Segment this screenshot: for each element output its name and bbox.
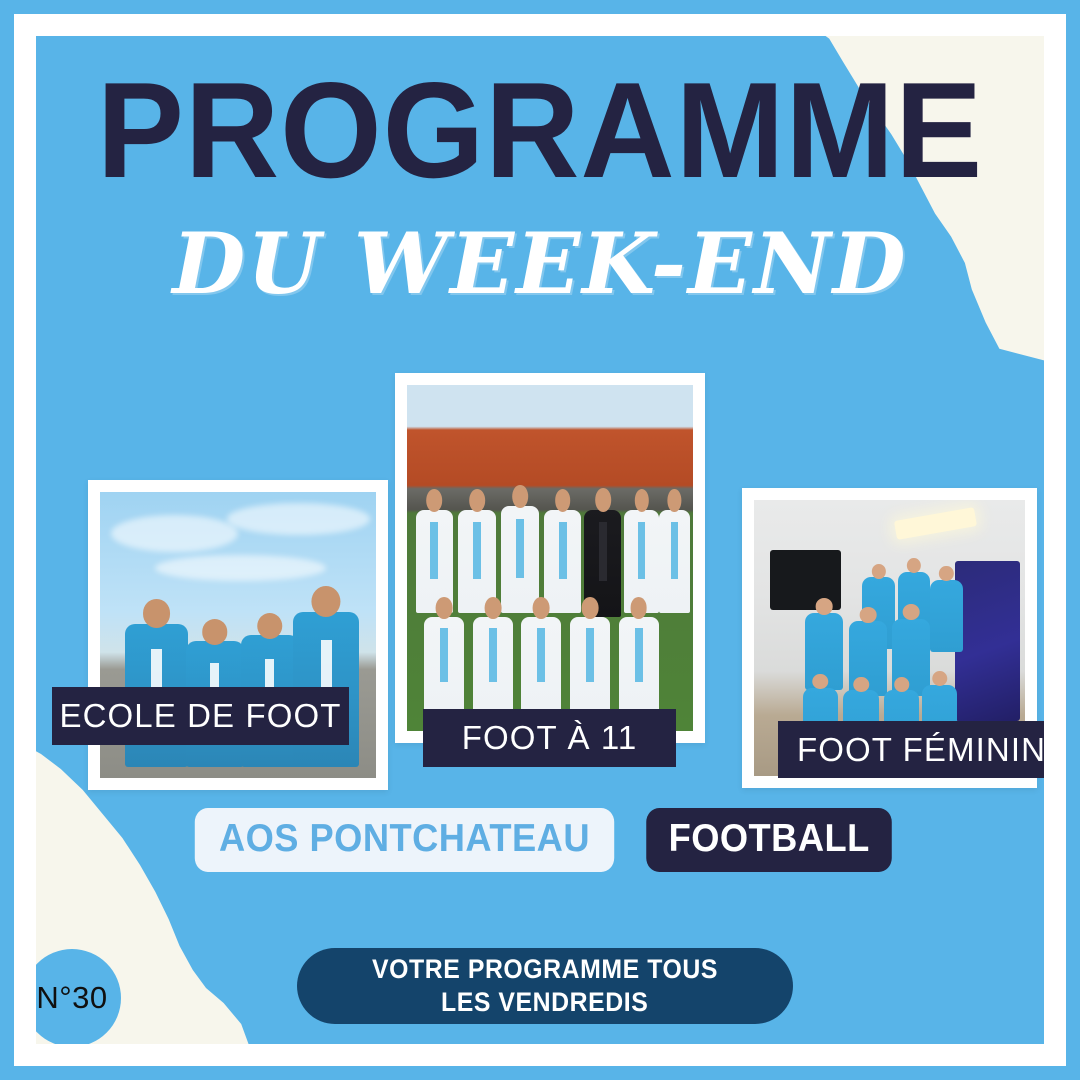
photo-caption-foot-a-11: FOOT À 11 bbox=[423, 709, 676, 767]
cta-line-1: VOTRE PROGRAMME TOUS bbox=[372, 953, 718, 986]
page-subtitle: DU WEEK-END bbox=[36, 214, 1044, 313]
issue-number-badge: N°30 bbox=[36, 949, 121, 1044]
photo-foot-a-11 bbox=[407, 385, 693, 731]
poster-inner-canvas: PROGRAMME DU WEEK-END ECOLE DE FOOT bbox=[36, 36, 1044, 1044]
sport-pill: FOOTBALL bbox=[646, 808, 892, 872]
photo-caption-ecole-de-foot: ECOLE DE FOOT bbox=[52, 687, 349, 745]
brand-row: AOS PONTCHATEAU FOOTBALL bbox=[36, 808, 1044, 872]
photo-card-foot-a-11 bbox=[395, 373, 705, 743]
cta-banner: VOTRE PROGRAMME TOUS LES VENDREDIS bbox=[297, 948, 793, 1024]
cta-line-2: LES VENDREDIS bbox=[441, 986, 648, 1019]
photo-caption-foot-feminin: FOOT FÉMININ bbox=[778, 721, 1044, 778]
page-title: PROGRAMME bbox=[56, 62, 1024, 198]
club-name-pill: AOS PONTCHATEAU bbox=[195, 808, 614, 872]
poster-canvas: PROGRAMME DU WEEK-END ECOLE DE FOOT bbox=[0, 0, 1080, 1080]
